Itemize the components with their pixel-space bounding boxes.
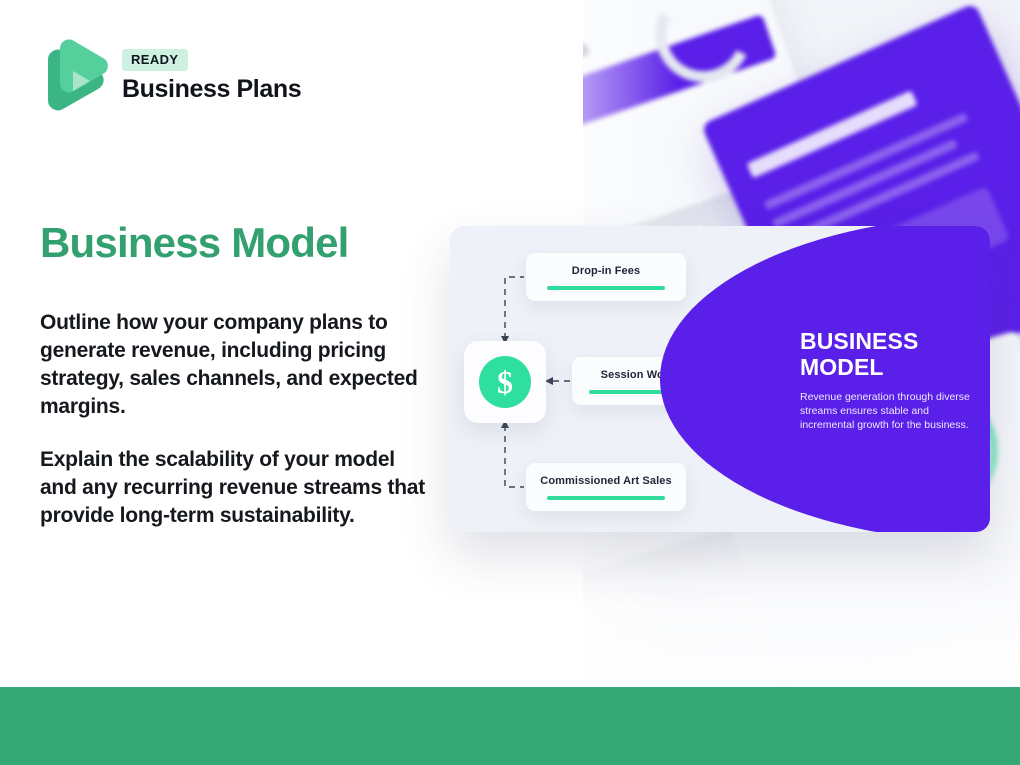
node-label: Commissioned Art Sales: [540, 475, 671, 487]
brand-text: READY Business Plans: [122, 49, 301, 104]
panel-content: BUSINESS MODEL Revenue generation throug…: [800, 328, 980, 432]
brand-name: Business Plans: [122, 75, 301, 104]
footer-bar: [0, 687, 1020, 765]
panel-title: BUSINESS MODEL: [800, 328, 980, 380]
node-accent-bar: [547, 286, 665, 290]
panel-description: Revenue generation through diverse strea…: [800, 390, 980, 432]
business-model-preview-card[interactable]: $ Drop-in Fees Session Workshops Commiss…: [450, 226, 990, 532]
body-paragraph-2: Explain the scalability of your model an…: [40, 446, 430, 530]
ready-badge: READY: [122, 49, 188, 71]
panel-title-line-1: BUSINESS: [800, 328, 980, 354]
revenue-hub-node[interactable]: $: [464, 341, 546, 423]
diagram-node-commissioned-art-sales[interactable]: Commissioned Art Sales: [526, 463, 686, 511]
body-paragraph-1: Outline how your company plans to genera…: [40, 309, 430, 421]
dollar-sign-icon: $: [479, 356, 531, 408]
page-title: Business Model: [40, 219, 349, 267]
node-label: Drop-in Fees: [572, 265, 640, 277]
brand-logo: READY Business Plans: [40, 38, 301, 114]
panel-title-line-2: MODEL: [800, 354, 980, 380]
node-accent-bar: [547, 496, 665, 500]
play-triangle-logo-icon: [40, 38, 108, 114]
diagram-node-drop-in-fees[interactable]: Drop-in Fees: [526, 253, 686, 301]
